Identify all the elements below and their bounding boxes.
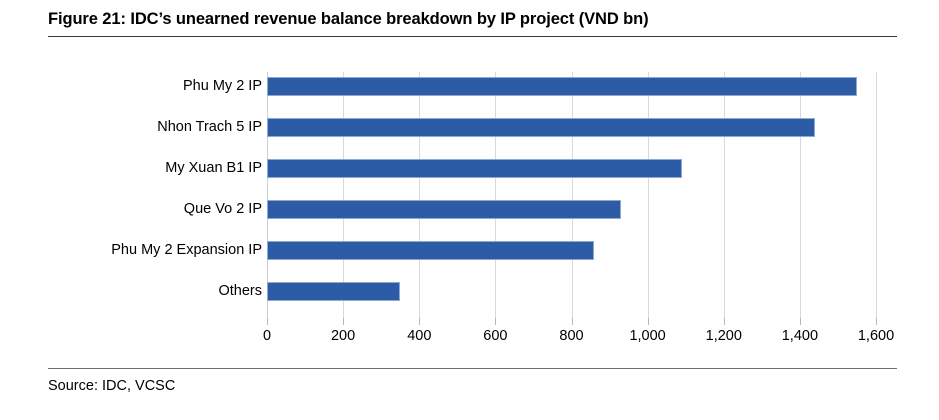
x-axis-tick-label: 1,400 <box>782 327 818 345</box>
bar-others[interactable] <box>267 282 400 301</box>
x-tick-mark <box>419 318 420 325</box>
gridline-400 <box>419 72 420 318</box>
gridline-600 <box>495 72 496 318</box>
bar-phu-my-2-expansion-ip[interactable] <box>267 241 594 260</box>
gridline-1000 <box>648 72 649 318</box>
x-axis-tick-label: 200 <box>331 327 355 345</box>
source-note: Source: IDC, VCSC <box>48 376 175 396</box>
page-title: Figure 21: IDC’s unearned revenue balanc… <box>48 8 897 30</box>
x-tick-mark <box>648 318 649 325</box>
y-axis-tick-label: Phu My 2 Expansion IP <box>20 241 262 259</box>
gridline-800 <box>572 72 573 318</box>
plot-area <box>267 72 876 318</box>
x-axis-tick-label: 800 <box>559 327 583 345</box>
y-axis-tick-label: Others <box>20 282 262 300</box>
x-tick-mark <box>800 318 801 325</box>
x-tick-mark <box>724 318 725 325</box>
x-axis-tick-label: 1,600 <box>858 327 894 345</box>
y-axis-tick-label: My Xuan B1 IP <box>20 159 262 177</box>
x-axis-tick-label: 1,000 <box>629 327 665 345</box>
title-block: Figure 21: IDC’s unearned revenue balanc… <box>48 8 897 30</box>
title-divider <box>48 36 897 37</box>
x-tick-mark <box>495 318 496 325</box>
y-axis-category-labels: Phu My 2 IP Nhon Trach 5 IP My Xuan B1 I… <box>20 72 262 318</box>
x-tick-mark <box>267 318 268 325</box>
y-axis-tick-label: Phu My 2 IP <box>20 77 262 95</box>
x-tick-mark <box>343 318 344 325</box>
bar-my-xuan-b1-ip[interactable] <box>267 159 682 178</box>
y-axis-tick-label: Nhon Trach 5 IP <box>20 118 262 136</box>
x-axis-tick-label: 400 <box>407 327 431 345</box>
x-tick-mark <box>572 318 573 325</box>
x-axis-tick-label: 1,200 <box>706 327 742 345</box>
x-axis-tick-label: 600 <box>483 327 507 345</box>
gridline-1200 <box>724 72 725 318</box>
x-axis-tick-label: 0 <box>263 327 271 345</box>
bar-chart: Phu My 2 IP Nhon Trach 5 IP My Xuan B1 I… <box>0 46 939 356</box>
x-tick-mark <box>876 318 877 325</box>
gridline-1600 <box>876 72 877 318</box>
footer-divider <box>48 368 897 369</box>
gridline-1400 <box>800 72 801 318</box>
bar-phu-my-2-ip[interactable] <box>267 77 857 96</box>
bar-nhon-trach-5-ip[interactable] <box>267 118 815 137</box>
bar-que-vo-2-ip[interactable] <box>267 200 621 219</box>
x-axis: 0 200 400 600 800 1,000 1,200 1,400 1,60… <box>267 318 876 352</box>
figure-container: Figure 21: IDC’s unearned revenue balanc… <box>0 0 939 420</box>
y-axis-tick-label: Que Vo 2 IP <box>20 200 262 218</box>
